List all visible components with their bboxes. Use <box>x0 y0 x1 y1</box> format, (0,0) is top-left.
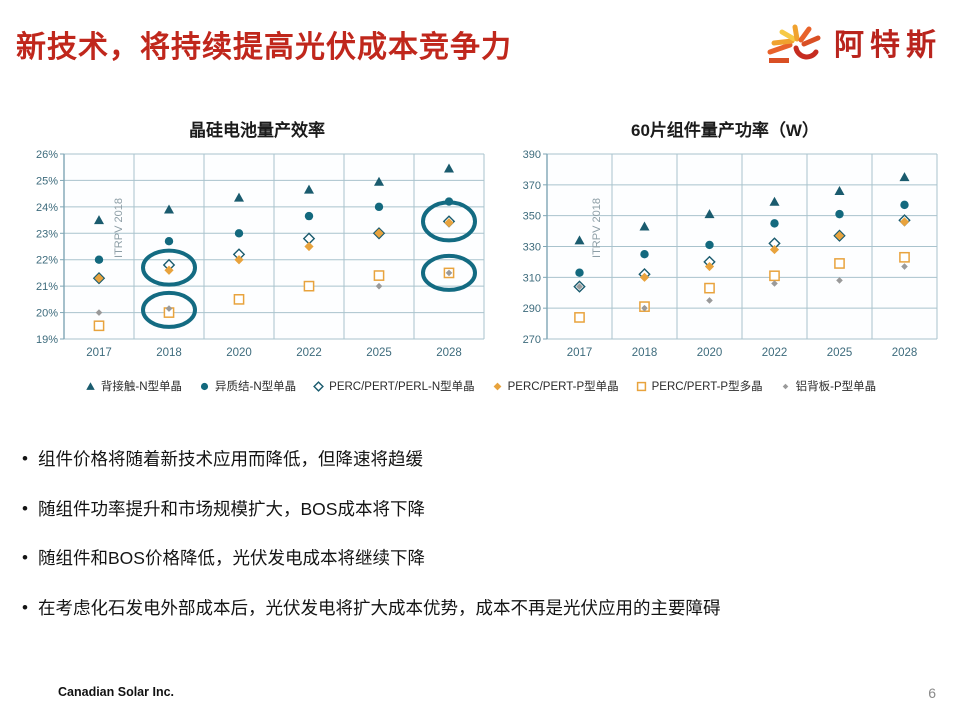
legend-item-label: 铝背板-P型单晶 <box>796 378 877 394</box>
charts-area: 晶硅电池量产效率 19%20%21%22%23%24%25%26%2017201… <box>0 118 960 408</box>
legend-item-label: PERC/PERT-P型多晶 <box>652 378 763 394</box>
y-axis-tick-label: 270 <box>523 334 541 346</box>
legend-item[interactable]: PERC/PERT-P型单晶 <box>491 378 619 394</box>
x-axis-tick-label: 2020 <box>697 347 723 359</box>
bullet-text: 组件价格将随着新技术应用而降低，但降速将趋缓 <box>38 448 932 472</box>
data-point <box>94 321 103 330</box>
data-point <box>575 269 583 277</box>
x-axis-tick-label: 2022 <box>762 347 788 359</box>
y-axis-tick-label: 370 <box>523 180 541 192</box>
legend-marker-small-diamond-icon <box>779 380 792 393</box>
data-point <box>900 201 908 209</box>
x-axis-tick-label: 2020 <box>226 347 252 359</box>
bullet-text: 随组件功率提升和市场规模扩大，BOS成本将下降 <box>38 498 932 522</box>
legend-item[interactable]: PERC/PERT/PERL-N型单晶 <box>312 378 474 394</box>
bullet-list: •组件价格将随着新技术应用而降低，但降速将趋缓•随组件功率提升和市场规模扩大，B… <box>22 448 932 647</box>
y-axis-tick-label: 24% <box>36 202 58 214</box>
data-point <box>374 271 383 280</box>
legend-item[interactable]: 铝背板-P型单晶 <box>779 378 877 394</box>
x-axis-tick-label: 2025 <box>366 347 392 359</box>
legend-marker-open-square-icon <box>635 380 648 393</box>
data-point <box>304 282 313 291</box>
data-point <box>835 259 844 268</box>
chart-annotation-itrpv: ITRPV 2018 <box>591 198 603 258</box>
y-axis-tick-label: 390 <box>523 149 541 161</box>
y-axis-tick-label: 20% <box>36 308 58 320</box>
legend-marker-glyph <box>314 382 323 391</box>
data-point <box>165 237 173 245</box>
x-axis-tick-label: 2018 <box>632 347 658 359</box>
data-point <box>575 313 584 322</box>
bullet-text: 随组件和BOS价格降低，光伏发电成本将继续下降 <box>38 547 932 571</box>
y-axis-tick-label: 23% <box>36 228 58 240</box>
bullet-dot-icon: • <box>22 448 38 471</box>
legend-item-label: 异质结-N型单晶 <box>215 378 296 394</box>
sunburst-icon <box>766 18 824 66</box>
y-axis-tick-label: 290 <box>523 303 541 315</box>
y-axis-tick-label: 19% <box>36 334 58 346</box>
data-point <box>95 256 103 264</box>
legend-item[interactable]: PERC/PERT-P型多晶 <box>635 378 763 394</box>
data-point <box>640 250 648 258</box>
data-point <box>705 241 713 249</box>
bullet-item: •随组件功率提升和市场规模扩大，BOS成本将下降 <box>22 498 932 522</box>
slide-footer: Canadian Solar Inc. 6 <box>0 683 960 715</box>
plot-left: 19%20%21%22%23%24%25%26%2017201820202022… <box>22 144 492 369</box>
legend-item[interactable]: 异质结-N型单晶 <box>198 378 296 394</box>
chart-legend: 背接触-N型单晶异质结-N型单晶PERC/PERT/PERL-N型单晶PERC/… <box>0 378 960 394</box>
y-axis-tick-label: 22% <box>36 255 58 267</box>
data-point <box>234 295 243 304</box>
y-axis-tick-label: 21% <box>36 281 58 293</box>
y-axis-tick-label: 26% <box>36 149 58 161</box>
legend-marker-glyph <box>493 382 501 390</box>
chart-title-right: 60片组件量产功率（W） <box>505 118 945 144</box>
chart-cell-efficiency: 晶硅电池量产效率 19%20%21%22%23%24%25%26%2017201… <box>22 118 492 369</box>
data-point <box>375 203 383 211</box>
legend-marker-open-diamond-icon <box>312 380 325 393</box>
data-point <box>900 253 909 262</box>
logo-text: 阿特斯 <box>834 20 942 64</box>
legend-item[interactable]: 背接触-N型单晶 <box>84 378 182 394</box>
x-axis-tick-label: 2018 <box>156 347 182 359</box>
legend-marker-glyph <box>86 382 95 390</box>
y-axis-tick-label: 310 <box>523 272 541 284</box>
x-axis-tick-label: 2017 <box>567 347 593 359</box>
bullet-item: •在考虑化石发电外部成本后，光伏发电将扩大成本优势，成本不再是光伏应用的主要障碍 <box>22 597 932 621</box>
legend-marker-circle-icon <box>198 380 211 393</box>
plot-svg-right: 2702903103303503703902017201820202022202… <box>505 144 945 369</box>
data-point <box>305 212 313 220</box>
legend-item-label: PERC/PERT-P型单晶 <box>508 378 619 394</box>
page-number: 6 <box>928 685 936 701</box>
legend-marker-diamond-icon <box>491 380 504 393</box>
legend-marker-glyph <box>637 382 645 390</box>
data-point <box>835 210 843 218</box>
slide-header: 新技术，将持续提高光伏成本竞争力 阿特斯 <box>0 0 960 82</box>
x-axis-tick-label: 2022 <box>296 347 322 359</box>
bullet-item: •组件价格将随着新技术应用而降低，但降速将趋缓 <box>22 448 932 472</box>
bullet-item: •随组件和BOS价格降低，光伏发电成本将继续下降 <box>22 547 932 571</box>
legend-marker-triangle-icon <box>84 380 97 393</box>
plot-svg-left: 19%20%21%22%23%24%25%26%2017201820202022… <box>22 144 492 369</box>
x-axis-tick-label: 2028 <box>436 347 462 359</box>
bullet-dot-icon: • <box>22 597 38 620</box>
y-axis-tick-label: 25% <box>36 175 58 187</box>
bullet-dot-icon: • <box>22 547 38 570</box>
bullet-dot-icon: • <box>22 498 38 521</box>
bullet-text: 在考虑化石发电外部成本后，光伏发电将扩大成本优势，成本不再是光伏应用的主要障碍 <box>38 597 932 621</box>
y-axis-tick-label: 330 <box>523 242 541 254</box>
data-point <box>235 229 243 237</box>
page-title: 新技术，将持续提高光伏成本竞争力 <box>16 22 512 66</box>
data-point <box>770 219 778 227</box>
legend-item-label: PERC/PERT/PERL-N型单晶 <box>329 378 474 394</box>
chart-title-left: 晶硅电池量产效率 <box>22 118 492 144</box>
x-axis-tick-label: 2028 <box>892 347 918 359</box>
data-point <box>705 284 714 293</box>
legend-item-label: 背接触-N型单晶 <box>101 378 182 394</box>
plot-right: 2702903103303503703902017201820202022202… <box>505 144 945 369</box>
legend-marker-glyph <box>201 382 208 389</box>
brand-logo: 阿特斯 <box>766 18 942 66</box>
x-axis-tick-label: 2017 <box>86 347 112 359</box>
x-axis-tick-label: 2025 <box>827 347 853 359</box>
chart-annotation-itrpv: ITRPV 2018 <box>113 198 125 258</box>
chart-module-power: 60片组件量产功率（W） 270290310330350370390201720… <box>505 118 945 369</box>
company-name: Canadian Solar Inc. <box>58 685 174 699</box>
data-point <box>770 271 779 280</box>
y-axis-tick-label: 350 <box>523 211 541 223</box>
legend-marker-glyph <box>782 383 788 389</box>
